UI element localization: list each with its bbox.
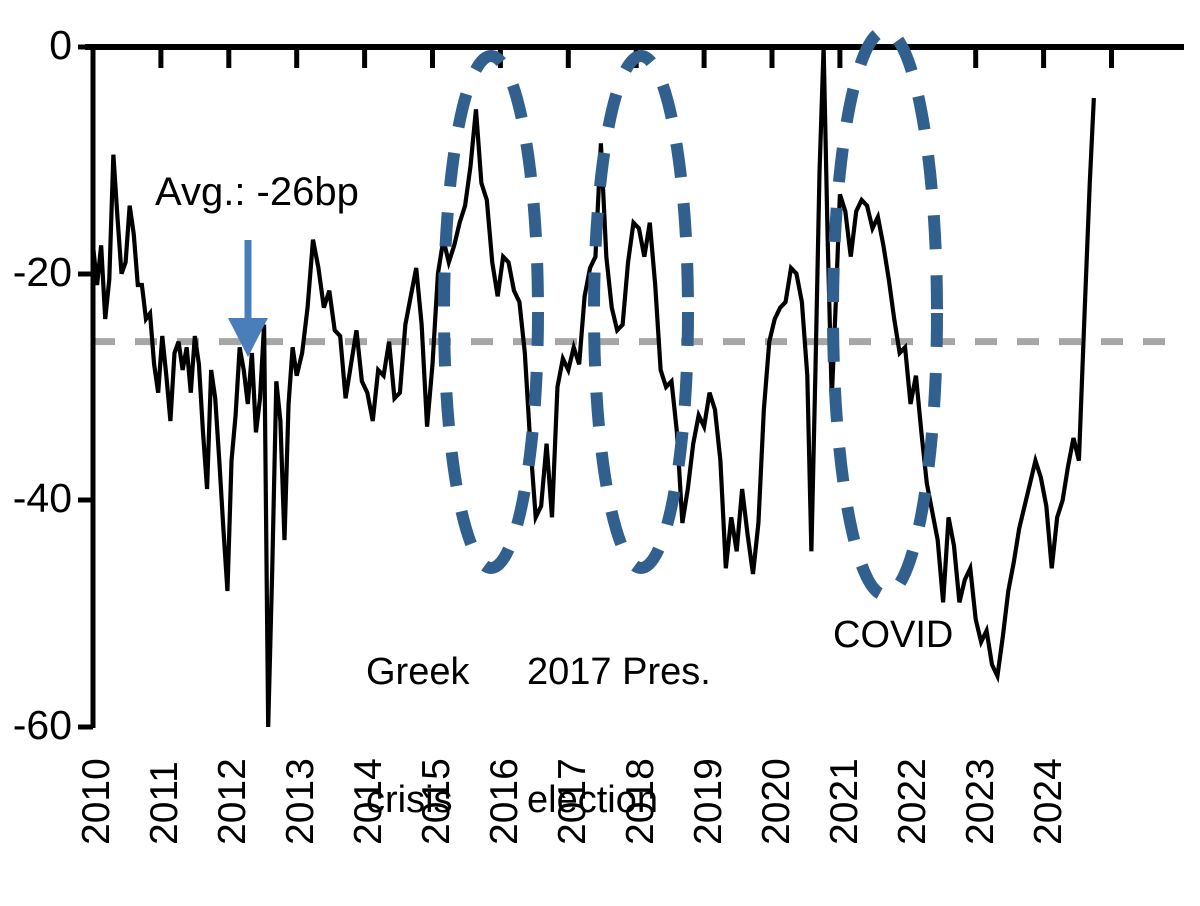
annotation-label-covid: COVID bbox=[833, 614, 953, 657]
xtick-label-2021: 2021 bbox=[825, 758, 864, 845]
annotation-label-greek-crisis-line2: crisis bbox=[366, 779, 469, 822]
ytick-label-60: -60 bbox=[13, 705, 72, 746]
xtick-label-2013: 2013 bbox=[281, 758, 320, 845]
chart-container: 0 -20 -40 -60 2010 2011 2012 2013 2014 2… bbox=[0, 0, 1200, 852]
annotation-ellipse-greek-crisis bbox=[444, 56, 538, 568]
xtick-label-2011: 2011 bbox=[145, 761, 184, 845]
ytick-label-0: 0 bbox=[49, 25, 72, 66]
xtick-marks bbox=[93, 47, 1112, 68]
annotation-label-2017-election: 2017 Pres. election bbox=[527, 566, 711, 906]
annotation-label-2017-election-line2: election bbox=[527, 779, 711, 822]
annotation-ellipse-2017-election bbox=[594, 56, 688, 568]
xtick-label-2022: 2022 bbox=[893, 758, 932, 845]
xtick-label-2012: 2012 bbox=[213, 758, 252, 845]
annotation-label-greek-crisis: Greek crisis bbox=[366, 566, 469, 906]
annotation-label-greek-crisis-line1: Greek bbox=[366, 651, 469, 694]
xtick-label-2023: 2023 bbox=[961, 758, 1000, 845]
xtick-label-2016: 2016 bbox=[485, 758, 524, 845]
annotation-ellipse-covid bbox=[833, 31, 937, 595]
xtick-label-2024: 2024 bbox=[1029, 758, 1068, 845]
annotation-label-2017-election-line1: 2017 Pres. bbox=[527, 651, 711, 694]
ytick-label-40: -40 bbox=[13, 478, 72, 519]
xtick-label-2020: 2020 bbox=[757, 758, 796, 845]
average-annotation-label: Avg.: -26bp bbox=[155, 172, 359, 212]
xtick-label-2010: 2010 bbox=[77, 758, 116, 845]
ytick-label-20: -20 bbox=[13, 252, 72, 293]
